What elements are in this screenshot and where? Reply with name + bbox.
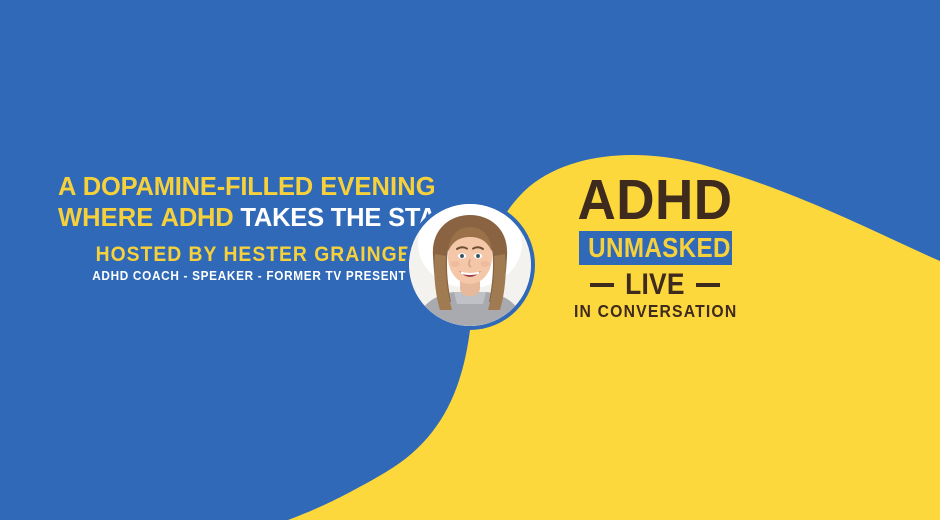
dash-left-icon — [590, 283, 614, 287]
headline-line1-emphasis: DOPAMINE-FILLED — [83, 173, 313, 201]
avatar-photo — [409, 204, 531, 326]
host-credit-block: HOSTED BY HESTER GRAINGER ADHD COACH - S… — [82, 243, 422, 285]
event-promo-banner: A DOPAMINE-FILLED EVENING WHERE ADHD TAK… — [0, 0, 940, 520]
headline-line-1: A DOPAMINE-FILLED EVENING — [58, 172, 438, 203]
dash-right-icon — [696, 283, 720, 287]
headline-line1-tail: EVENING — [313, 173, 436, 201]
logo-tagline: IN CONVERSATION — [574, 302, 736, 321]
logo-subtitle-bar: UNMASKED — [579, 231, 732, 265]
logo-title: ADHD — [571, 172, 738, 228]
headline-line2-adhd: ADHD — [161, 204, 234, 232]
adhd-unmasked-logo: ADHD UNMASKED LIVE IN CONVERSATION — [565, 172, 745, 321]
headline-block: A DOPAMINE-FILLED EVENING WHERE ADHD TAK… — [58, 172, 438, 234]
host-roles: ADHD COACH - SPEAKER - FORMER TV PRESENT… — [92, 268, 412, 285]
host-name: HOSTED BY HESTER GRAINGER — [96, 243, 409, 267]
logo-live-row: LIVE — [565, 270, 745, 300]
headline-line1-lead: A — [58, 173, 83, 201]
logo-subtitle: UNMASKED — [588, 234, 723, 261]
headline-line2-lead: WHERE — [58, 204, 161, 232]
logo-live-label: LIVE — [625, 270, 685, 300]
headline-line-2: WHERE ADHD TAKES THE STAGE — [58, 203, 438, 234]
avatar — [409, 204, 531, 326]
